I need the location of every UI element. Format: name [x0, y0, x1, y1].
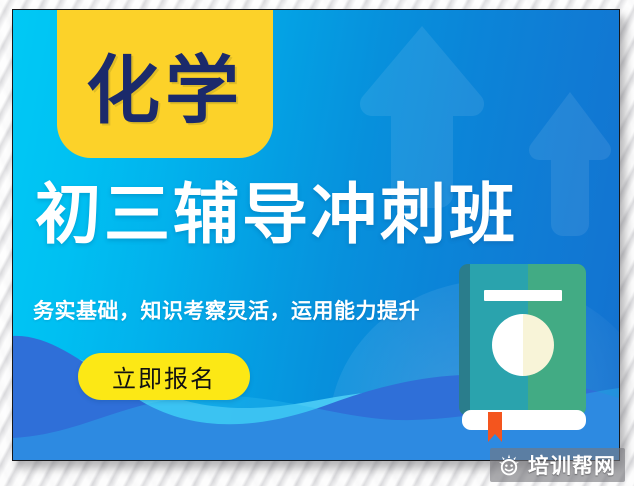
promo-banner[interactable]: 化学 初三辅导冲刺班 务实基础，知识考察灵活，运用能力提升 立即报名 [12, 9, 620, 461]
enroll-now-button-label: 立即报名 [112, 359, 216, 394]
up-arrow-icon [527, 88, 613, 238]
sun-face-icon [497, 453, 521, 477]
subject-badge-label: 化学 [86, 40, 244, 128]
watermark-text: 培训帮网 [528, 450, 616, 480]
banner-canvas: 化学 初三辅导冲刺班 务实基础，知识考察灵活，运用能力提升 立即报名 [13, 10, 619, 460]
subtitle: 务实基础，知识考察灵活，运用能力提升 [33, 295, 420, 325]
watermark: 培训帮网 [490, 448, 625, 482]
book-icon [459, 262, 586, 442]
subject-badge: 化学 [57, 10, 273, 158]
enroll-now-button[interactable]: 立即报名 [78, 353, 250, 400]
headline: 初三辅导冲刺班 [35, 182, 518, 248]
